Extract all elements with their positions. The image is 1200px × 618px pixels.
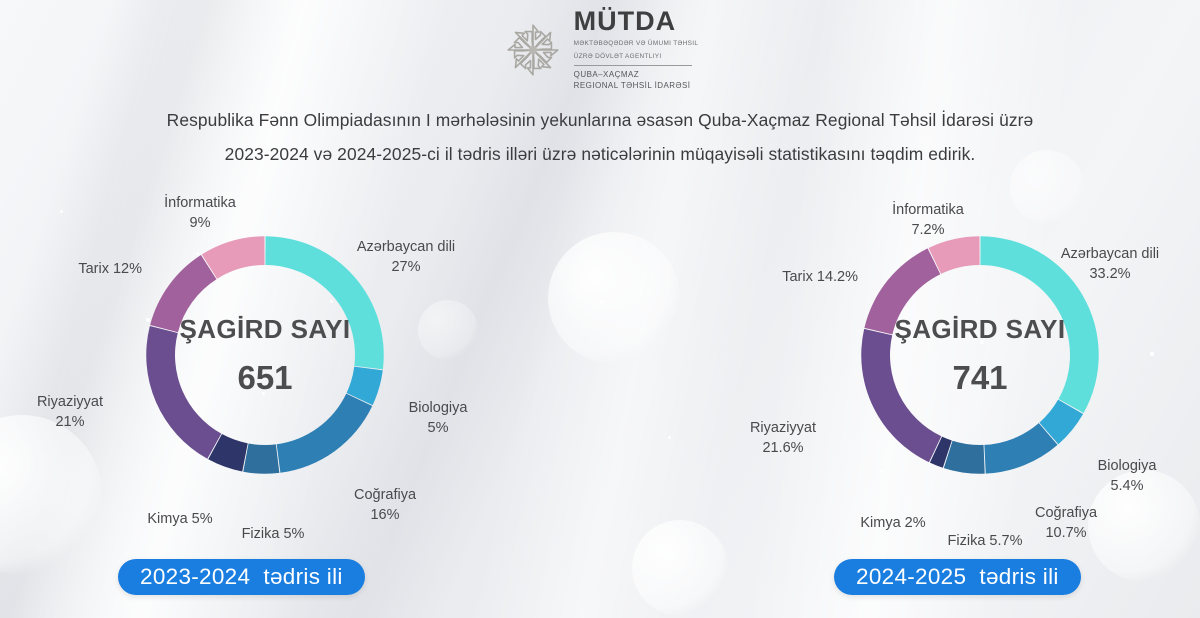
label-biologiya-2024: Biologiya 5.4% xyxy=(1068,456,1186,496)
brand-region-line2: REGIONAL TƏHSİL İDARƏSİ xyxy=(574,80,699,92)
label-name: Coğrafiya xyxy=(1007,503,1125,523)
label-riyaziyyat-2024: Riyaziyyat 21.6% xyxy=(718,418,848,458)
donut-segment-coğrafiya xyxy=(277,394,373,473)
sparkle-dot xyxy=(60,210,63,213)
label-value: 10.7% xyxy=(1007,523,1125,543)
label-value: 5% xyxy=(378,418,498,438)
year-badge-text: 2023-2024 tədris ili xyxy=(140,564,343,590)
label-value: 21% xyxy=(10,412,130,432)
bokeh-circle xyxy=(418,300,478,360)
label-tarix-2024: Tarix 14.2% xyxy=(700,267,858,287)
label-cografiya-2024: Coğrafiya 10.7% xyxy=(1007,503,1125,543)
year-suffix: tədris ili xyxy=(979,564,1058,589)
sparkle-dot xyxy=(1150,352,1154,356)
bokeh-circle xyxy=(632,520,728,616)
label-kimya-2024: Kimya 2% xyxy=(838,513,948,533)
year-badge-text: 2024-2025 tədris ili xyxy=(856,564,1059,590)
brand-subtitle-line2: üzrə Dövlət Agentliyi xyxy=(574,52,699,61)
label-name: Kimya 2% xyxy=(838,513,948,533)
label-azerbaycan-dili-2024: Azərbaycan dili 33.2% xyxy=(1035,244,1185,284)
label-value: 33.2% xyxy=(1035,264,1185,284)
label-riyaziyyat-2023: Riyaziyyat 21% xyxy=(10,392,130,432)
label-name: Riyaziyyat xyxy=(10,392,130,412)
label-value: 21.6% xyxy=(718,438,848,458)
sparkle-dot xyxy=(600,300,604,304)
year-range: 2023-2024 xyxy=(140,564,250,589)
label-name: Coğrafiya xyxy=(325,485,445,505)
label-cografiya-2023: Coğrafiya 16% xyxy=(325,485,445,525)
label-value: 7.2% xyxy=(858,220,998,240)
mutda-snowflake-logo-icon xyxy=(502,19,564,81)
center-value: 651 xyxy=(135,361,395,394)
label-value: 16% xyxy=(325,505,445,525)
label-informatika-2024: İnformatika 7.2% xyxy=(858,200,998,240)
center-title: ŞAGİRD SAYI xyxy=(850,316,1110,342)
headline: Respublika Fənn Olimpiadasının I mərhələ… xyxy=(100,104,1100,172)
center-title: ŞAGİRD SAYI xyxy=(135,316,395,342)
label-name: İnformatika xyxy=(858,200,998,220)
year-range: 2024-2025 xyxy=(856,564,966,589)
headline-line-2: 2023-2024 və 2024-2025-ci il tədris illə… xyxy=(100,138,1100,172)
label-name: Fizika 5% xyxy=(218,524,328,544)
label-name: Azərbaycan dili xyxy=(331,237,481,257)
label-informatika-2023: İnformatika 9% xyxy=(130,193,270,233)
label-name: Azərbaycan dili xyxy=(1035,244,1185,264)
year-badge-2024-2025[interactable]: 2024-2025 tədris ili xyxy=(834,559,1081,595)
label-name: İnformatika xyxy=(130,193,270,213)
label-name: Biologiya xyxy=(378,398,498,418)
brand-subtitle-line1: Məktəbəqədər və Ümumi Təhsil xyxy=(574,39,699,48)
label-azerbaycan-dili-2023: Azərbaycan dili 27% xyxy=(331,237,481,277)
label-value: 27% xyxy=(331,257,481,277)
label-name: Tarix 14.2% xyxy=(700,267,858,287)
sparkle-dot xyxy=(668,436,671,439)
year-badge-2023-2024[interactable]: 2023-2024 tədris ili xyxy=(118,559,365,595)
chart-center-label-2023-2024: ŞAGİRD SAYI 651 xyxy=(135,316,395,394)
headline-line-1: Respublika Fənn Olimpiadasının I mərhələ… xyxy=(100,104,1100,138)
label-value: 9% xyxy=(130,213,270,233)
chart-center-label-2024-2025: ŞAGİRD SAYI 741 xyxy=(850,316,1110,394)
label-fizika-2023: Fizika 5% xyxy=(218,524,328,544)
label-tarix-2023: Tarix 12% xyxy=(0,259,142,279)
bokeh-circle xyxy=(548,232,680,364)
brand-region-line1: QUBA–XAÇMAZ xyxy=(574,69,699,81)
label-name: Tarix 12% xyxy=(0,259,142,279)
center-value: 741 xyxy=(850,361,1110,394)
label-name: Riyaziyyat xyxy=(718,418,848,438)
label-name: Biologiya xyxy=(1068,456,1186,476)
poster-canvas: MÜTDA Məktəbəqədər və Ümumi Təhsil üzrə … xyxy=(0,0,1200,618)
donut-segment-fizika xyxy=(243,443,279,473)
label-biologiya-2023: Biologiya 5% xyxy=(378,398,498,438)
brand-header: MÜTDA Məktəbəqədər və Ümumi Təhsil üzrə … xyxy=(0,8,1200,92)
brand-divider xyxy=(574,65,692,66)
year-suffix: tədris ili xyxy=(263,564,342,589)
label-value: 5.4% xyxy=(1068,476,1186,496)
brand-title: MÜTDA xyxy=(574,8,699,35)
